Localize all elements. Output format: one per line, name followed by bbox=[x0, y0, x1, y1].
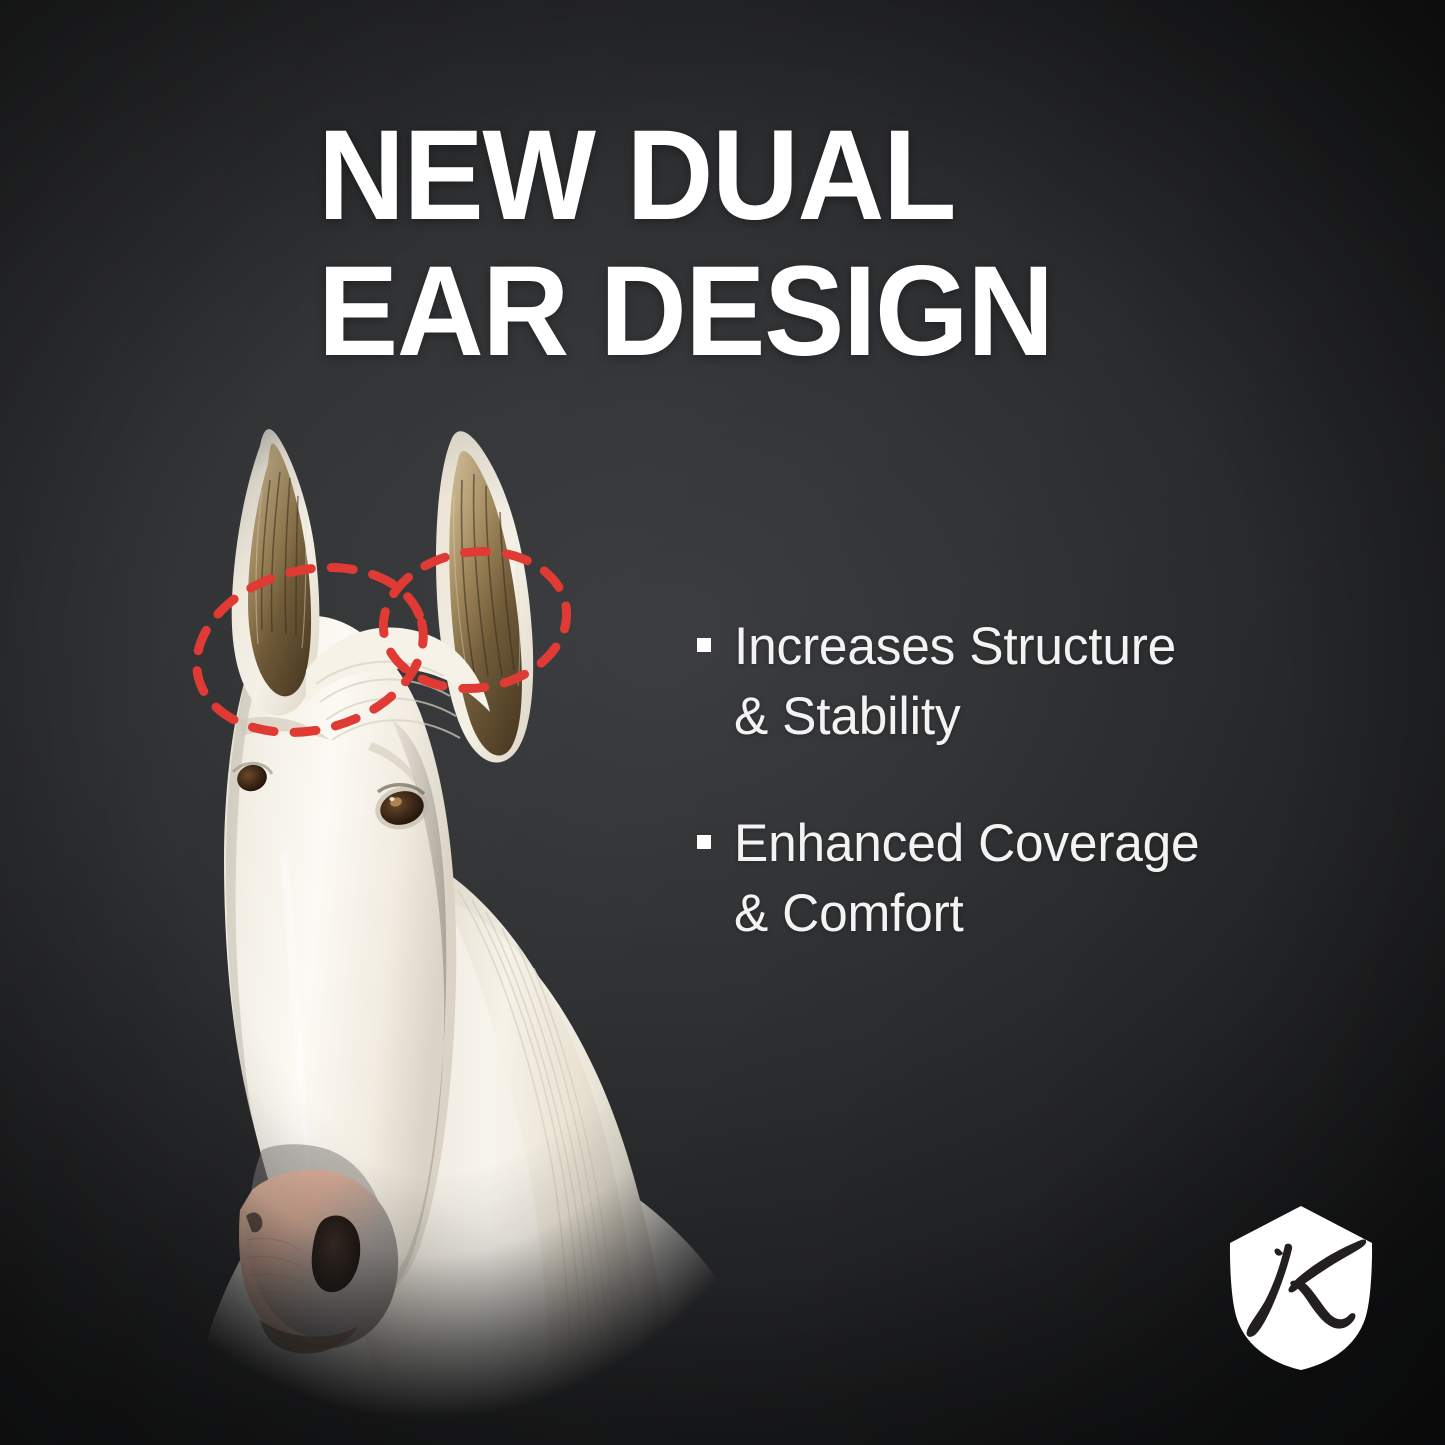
feature-list: Increases Structure & Stability Enhanced… bbox=[697, 612, 1357, 950]
list-item: Enhanced Coverage & Comfort bbox=[697, 809, 1357, 950]
shield-k-icon bbox=[1225, 1203, 1377, 1373]
feature-text-line-2: & Comfort bbox=[734, 884, 964, 943]
square-bullet-icon bbox=[697, 835, 711, 849]
promo-graphic: NEW DUAL EAR DESIGN Increases Structure … bbox=[0, 0, 1445, 1445]
page-title-line-2: EAR DESIGN bbox=[318, 244, 1164, 380]
page-title: NEW DUAL EAR DESIGN bbox=[318, 108, 1164, 379]
list-item: Increases Structure & Stability bbox=[697, 612, 1357, 753]
feature-text-line-1: Enhanced Coverage bbox=[734, 814, 1199, 873]
feature-text: Enhanced Coverage & Comfort bbox=[734, 809, 1199, 950]
feature-text: Increases Structure & Stability bbox=[734, 612, 1176, 753]
brand-logo bbox=[1225, 1203, 1377, 1373]
page-title-line-1: NEW DUAL bbox=[318, 108, 1164, 244]
square-bullet-icon bbox=[697, 638, 711, 652]
feature-text-line-2: & Stability bbox=[734, 687, 960, 746]
feature-text-line-1: Increases Structure bbox=[734, 617, 1176, 676]
